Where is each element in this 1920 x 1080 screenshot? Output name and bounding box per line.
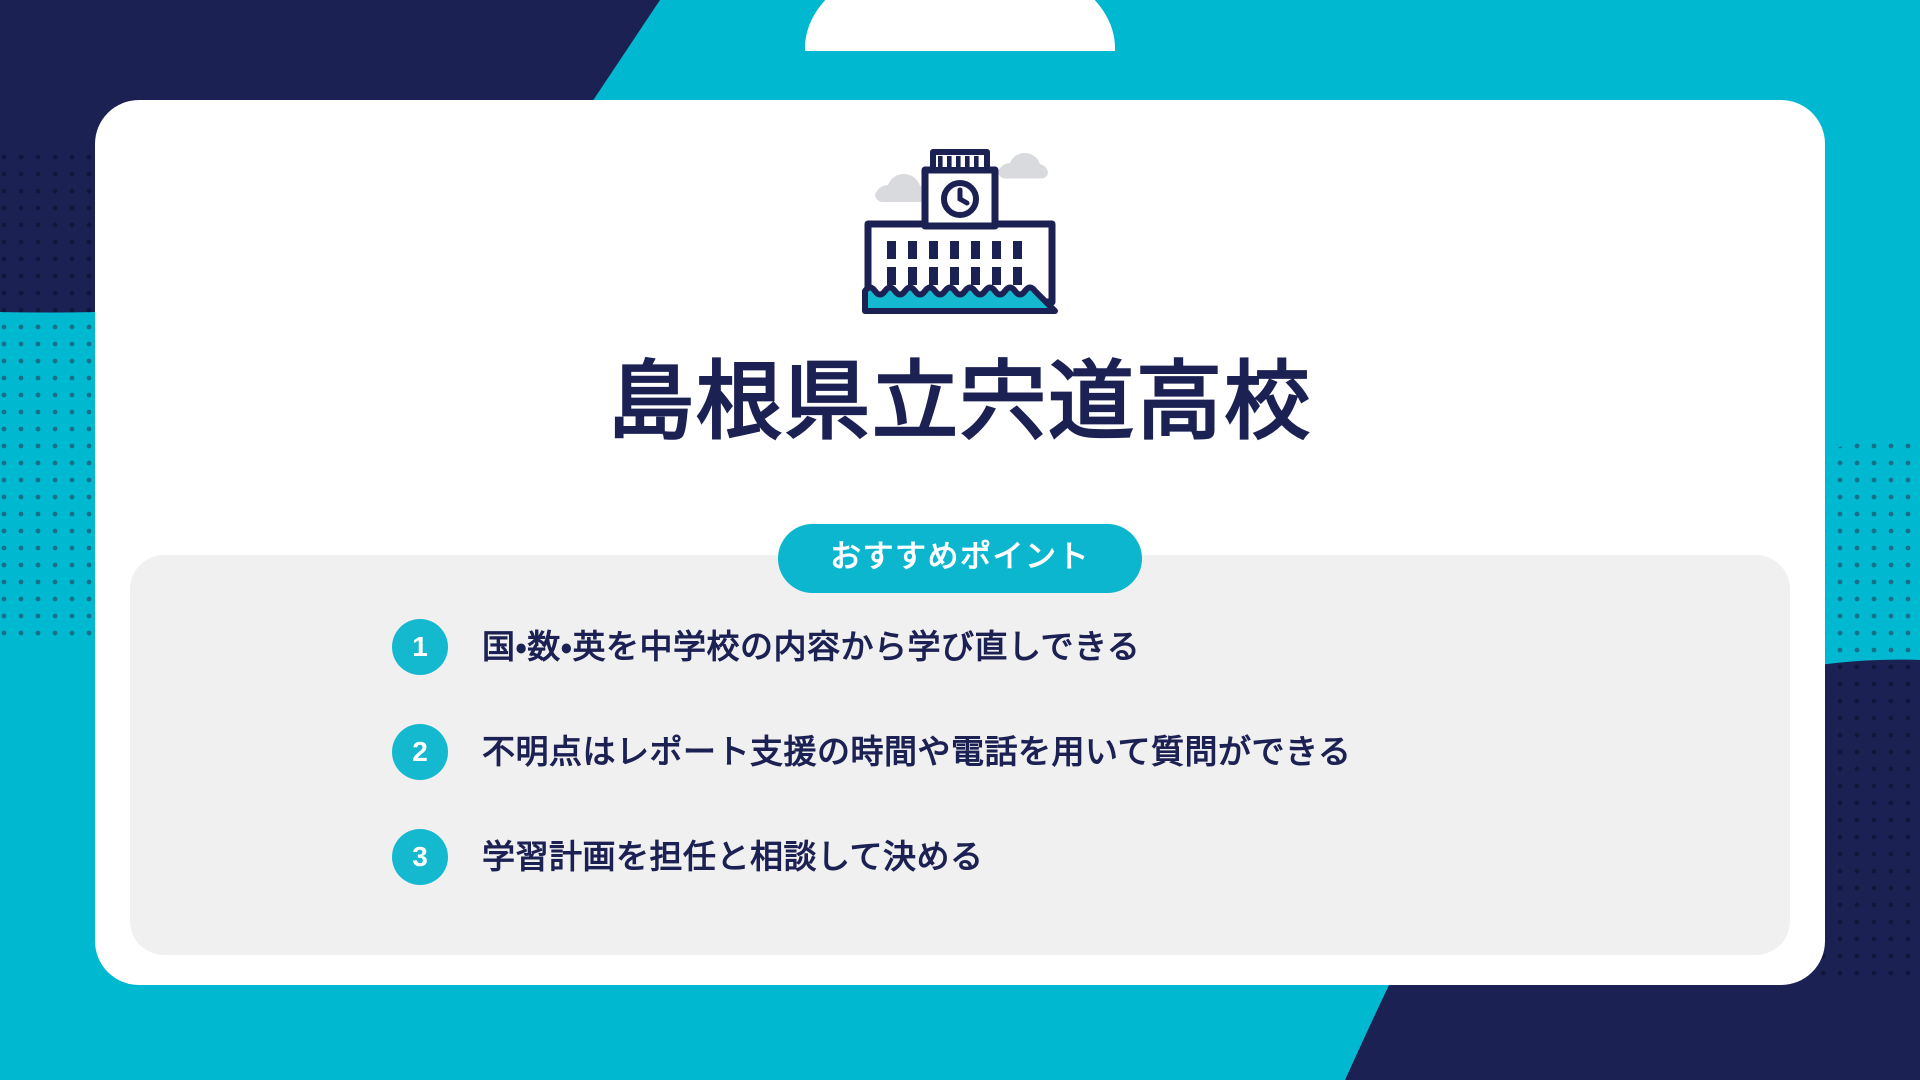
card-top-bump: [805, 0, 1115, 51]
list-item: 3 学習計画を担任と相談して決める: [392, 828, 1722, 886]
point-text: 国・数・英を中学校の内容から学び直しできる: [482, 626, 1140, 669]
point-number-badge: 2: [392, 724, 448, 780]
point-number-badge: 1: [392, 619, 448, 675]
list-item: 1 国・数・英を中学校の内容から学び直しできる: [392, 618, 1722, 676]
point-text: 学習計画を担任と相談して決める: [482, 836, 984, 879]
point-text: 不明点はレポート支援の時間や電話を用いて質問ができる: [482, 731, 1351, 774]
point-number-badge: 3: [392, 829, 448, 885]
points-list: 1 国・数・英を中学校の内容から学び直しできる 2 不明点はレポート支援の時間や…: [392, 618, 1722, 886]
page-title: 島根県立宍道高校: [0, 355, 1920, 450]
status-badge: おすすめポイント: [778, 524, 1142, 593]
school-building-icon: [855, 140, 1065, 320]
list-item: 2 不明点はレポート支援の時間や電話を用いて質問ができる: [392, 723, 1722, 781]
